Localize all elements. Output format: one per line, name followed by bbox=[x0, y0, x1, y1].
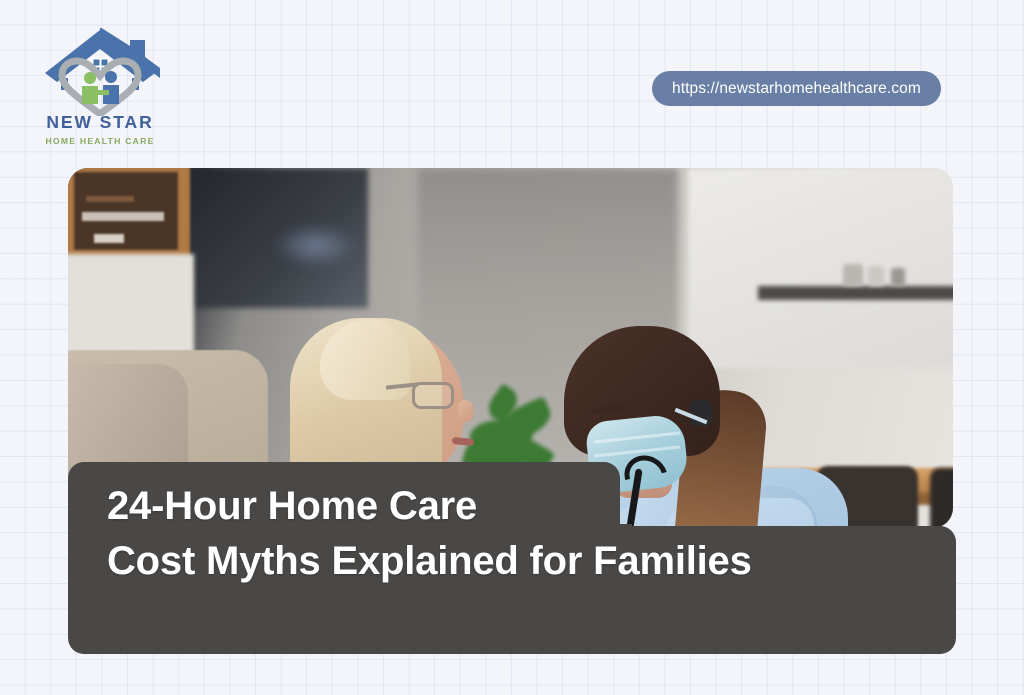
kitchen-counter bbox=[758, 286, 953, 300]
shelf-item bbox=[94, 234, 124, 243]
shelf-item bbox=[86, 196, 134, 202]
title-line-1: 24-Hour Home Care bbox=[107, 482, 952, 531]
house-heart-family-logo-icon bbox=[27, 28, 173, 116]
title-overlay-card: 24-Hour Home Care Cost Myths Explained f… bbox=[68, 462, 956, 654]
patient-nose bbox=[458, 400, 474, 422]
shelf-interior bbox=[74, 172, 178, 250]
brand-tagline: HOME HEALTH CARE bbox=[27, 136, 173, 146]
tv-glow bbox=[273, 223, 358, 268]
brand-logo[interactable]: NEW STAR HOME HEALTH CARE bbox=[27, 28, 173, 146]
counter-item bbox=[843, 264, 863, 286]
counter-item bbox=[891, 268, 905, 286]
page-title: 24-Hour Home Care Cost Myths Explained f… bbox=[107, 482, 952, 586]
shelf-item bbox=[82, 212, 164, 221]
eyeglasses-lens bbox=[412, 382, 454, 409]
kitchen-cabinets bbox=[688, 168, 953, 368]
website-url-badge[interactable]: https://newstarhomehealthcare.com bbox=[652, 71, 941, 106]
counter-item bbox=[868, 266, 884, 286]
title-line-2: Cost Myths Explained for Families bbox=[107, 537, 952, 586]
